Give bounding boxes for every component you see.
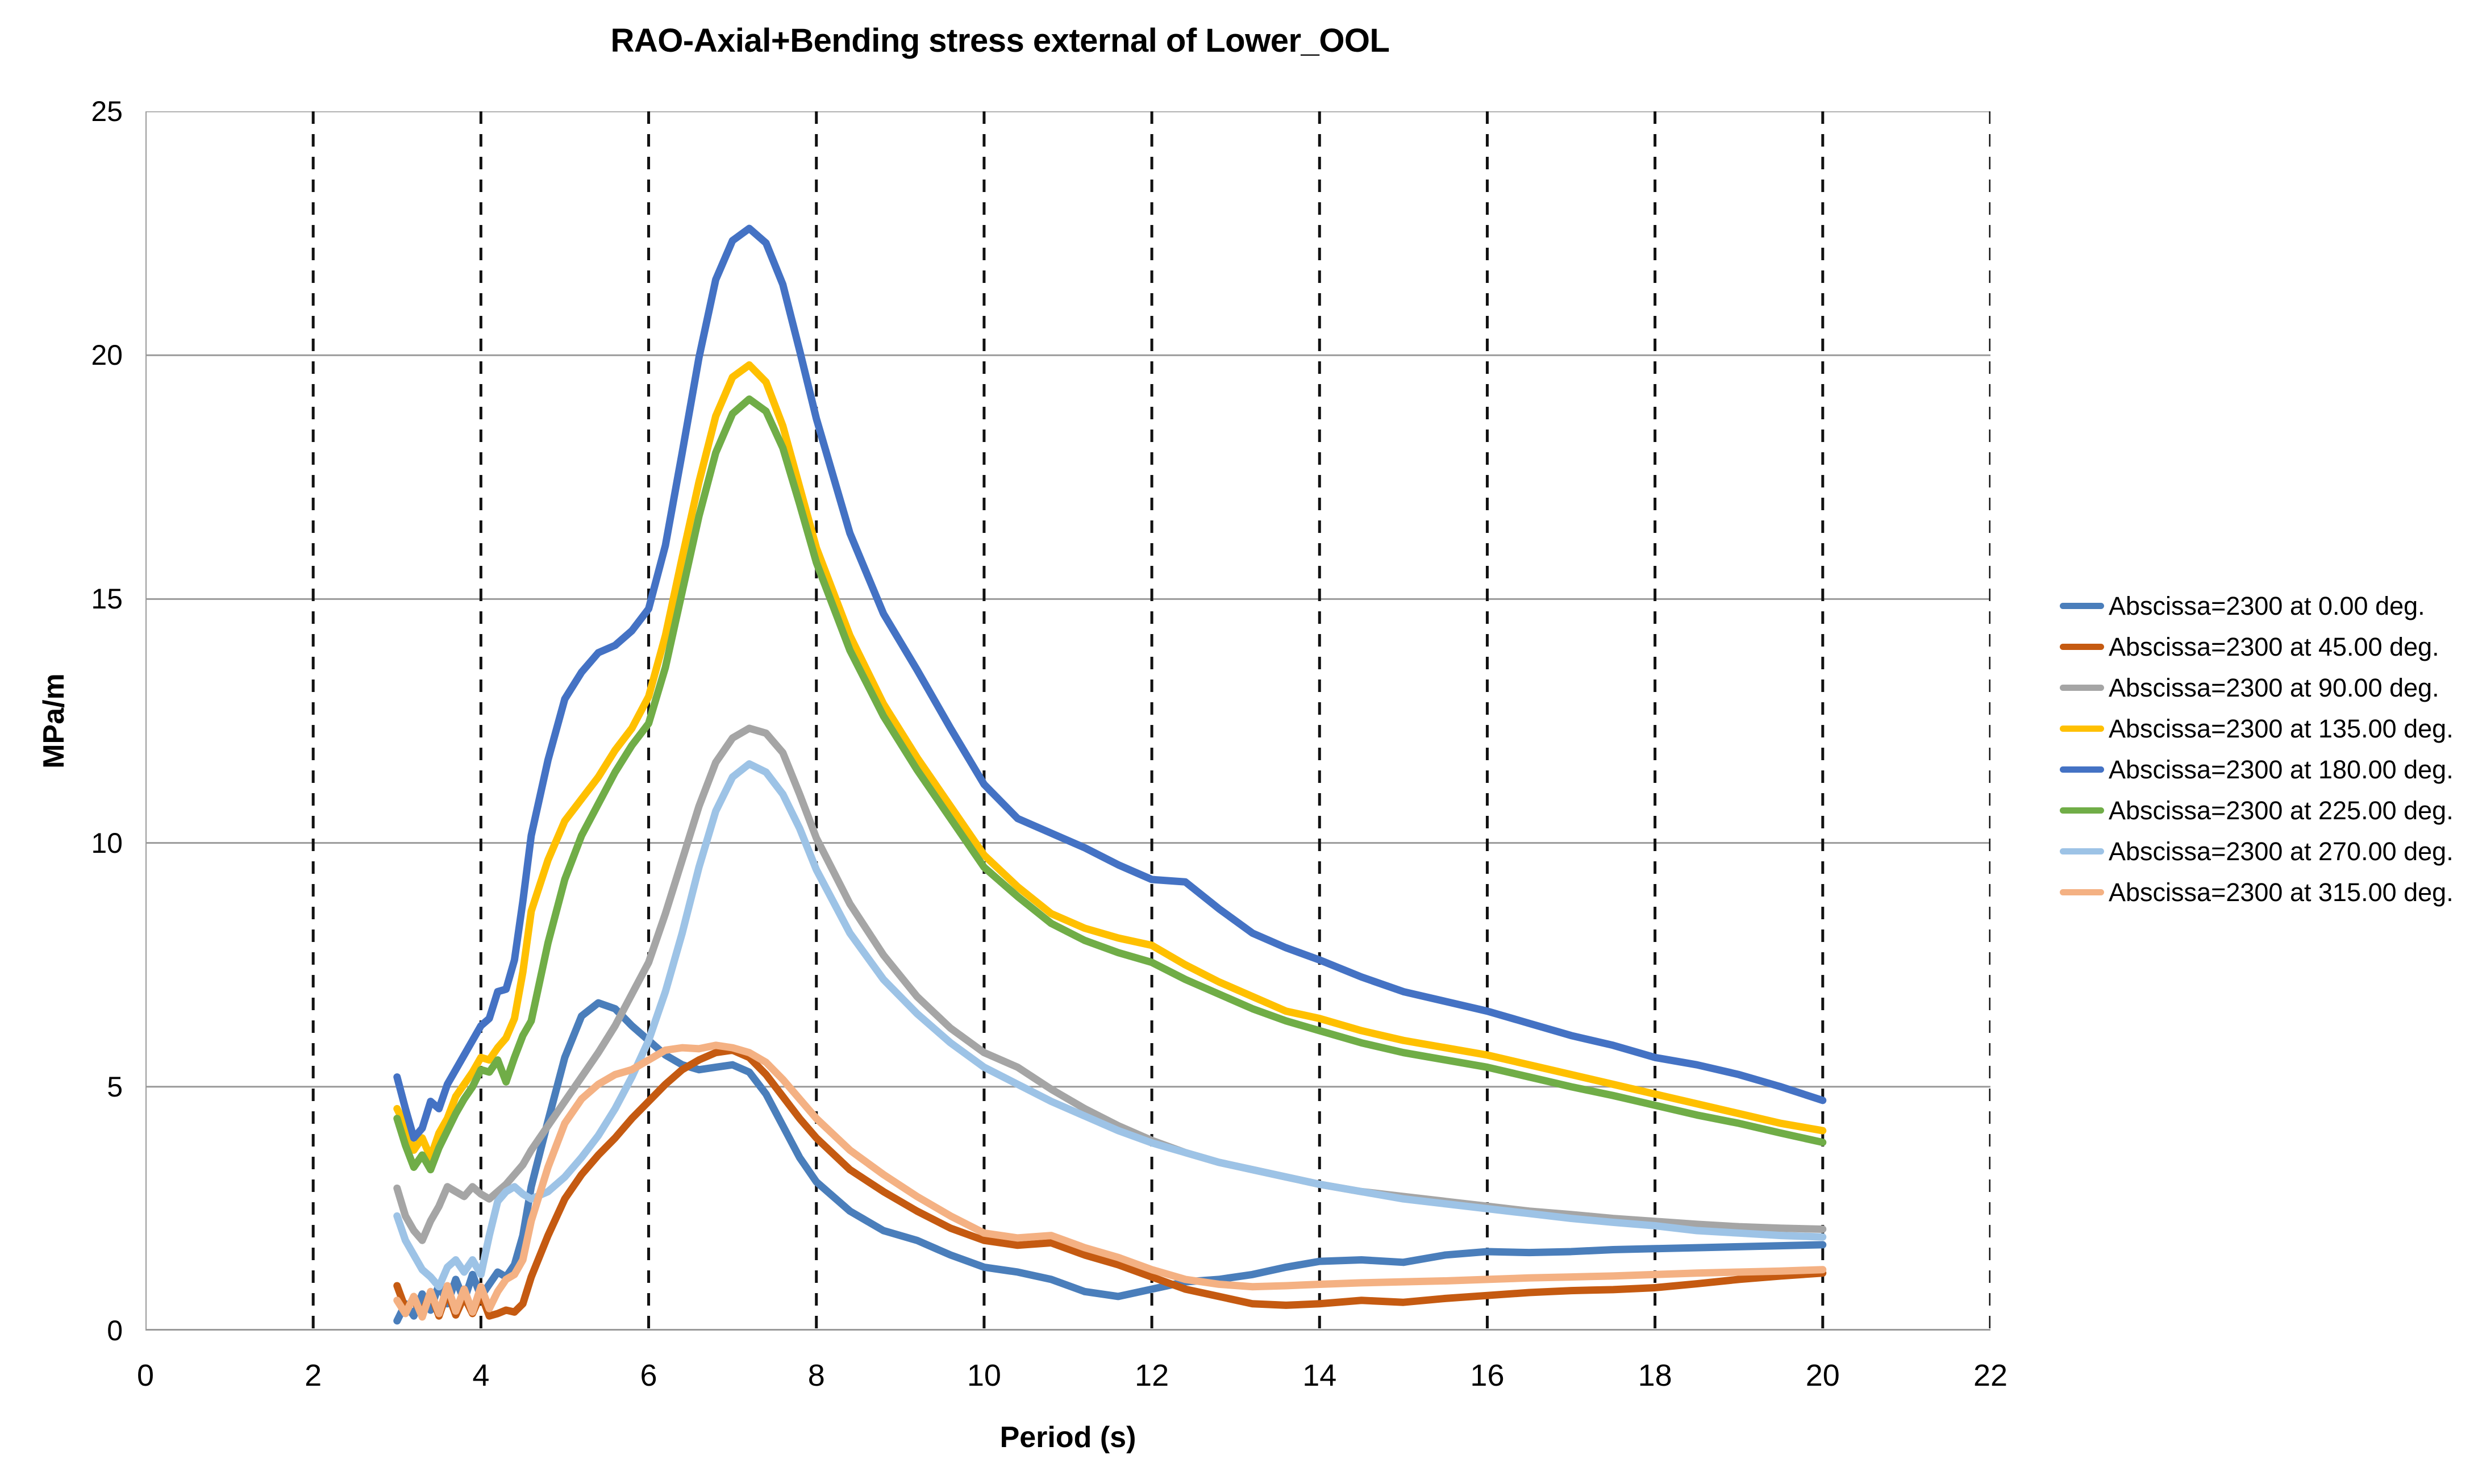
x-tick-label: 22: [1934, 1358, 2047, 1393]
x-tick-label: 4: [424, 1358, 538, 1393]
x-tick-label: 0: [89, 1358, 202, 1393]
legend-color-swatch: [2060, 726, 2104, 732]
y-tick-label: 20: [32, 339, 123, 372]
plot-svg: [145, 111, 1990, 1331]
legend-color-swatch: [2060, 848, 2104, 854]
y-axis-title: MPa/m: [37, 673, 71, 769]
legend-label: Abscissa=2300 at 270.00 deg.: [2109, 839, 2454, 864]
legend-label: Abscissa=2300 at 135.00 deg.: [2109, 716, 2454, 741]
legend-item[interactable]: Abscissa=2300 at 225.00 deg.: [2060, 790, 2454, 831]
y-tick-label: 10: [32, 827, 123, 860]
legend-label: Abscissa=2300 at 0.00 deg.: [2109, 593, 2425, 619]
x-tick-label: 2: [256, 1358, 370, 1393]
legend-item[interactable]: Abscissa=2300 at 270.00 deg.: [2060, 831, 2454, 872]
series-line-4: [397, 228, 1823, 1138]
y-tick-label: 25: [32, 95, 123, 128]
legend-color-swatch: [2060, 807, 2104, 814]
x-tick-label: 12: [1095, 1358, 1209, 1393]
legend-color-swatch: [2060, 685, 2104, 691]
legend-label: Abscissa=2300 at 315.00 deg.: [2109, 879, 2454, 905]
legend-color-swatch: [2060, 603, 2104, 609]
series-line-5: [397, 399, 1823, 1169]
legend-item[interactable]: Abscissa=2300 at 45.00 deg.: [2060, 626, 2454, 667]
x-tick-label: 8: [760, 1358, 873, 1393]
legend-label: Abscissa=2300 at 225.00 deg.: [2109, 798, 2454, 823]
legend-item[interactable]: Abscissa=2300 at 135.00 deg.: [2060, 708, 2454, 749]
series-line-2: [397, 728, 1823, 1240]
plot-area: [145, 111, 1990, 1331]
x-tick-label: 20: [1766, 1358, 1880, 1393]
x-axis-title: Period (s): [145, 1420, 1990, 1454]
legend-color-swatch: [2060, 766, 2104, 773]
legend-item[interactable]: Abscissa=2300 at 0.00 deg.: [2060, 585, 2454, 626]
page-title: RAO-Axial+Bending stress external of Low…: [0, 22, 2000, 60]
legend-item[interactable]: Abscissa=2300 at 315.00 deg.: [2060, 872, 2454, 912]
x-tick-label: 10: [927, 1358, 1041, 1393]
x-tick-label: 6: [592, 1358, 706, 1393]
y-tick-label: 15: [32, 582, 123, 615]
x-tick-label: 16: [1430, 1358, 1544, 1393]
legend: Abscissa=2300 at 0.00 deg.Abscissa=2300 …: [2060, 585, 2454, 912]
chart-page: RAO-Axial+Bending stress external of Low…: [0, 0, 2474, 1484]
x-tick-label: 18: [1598, 1358, 1712, 1393]
y-tick-label: 0: [32, 1314, 123, 1347]
legend-item[interactable]: Abscissa=2300 at 90.00 deg.: [2060, 667, 2454, 708]
legend-color-swatch: [2060, 889, 2104, 895]
x-tick-label: 14: [1263, 1358, 1376, 1393]
legend-label: Abscissa=2300 at 45.00 deg.: [2109, 634, 2439, 660]
legend-color-swatch: [2060, 644, 2104, 650]
legend-label: Abscissa=2300 at 180.00 deg.: [2109, 757, 2454, 782]
legend-item[interactable]: Abscissa=2300 at 180.00 deg.: [2060, 749, 2454, 790]
y-tick-label: 5: [32, 1070, 123, 1103]
legend-label: Abscissa=2300 at 90.00 deg.: [2109, 675, 2439, 701]
